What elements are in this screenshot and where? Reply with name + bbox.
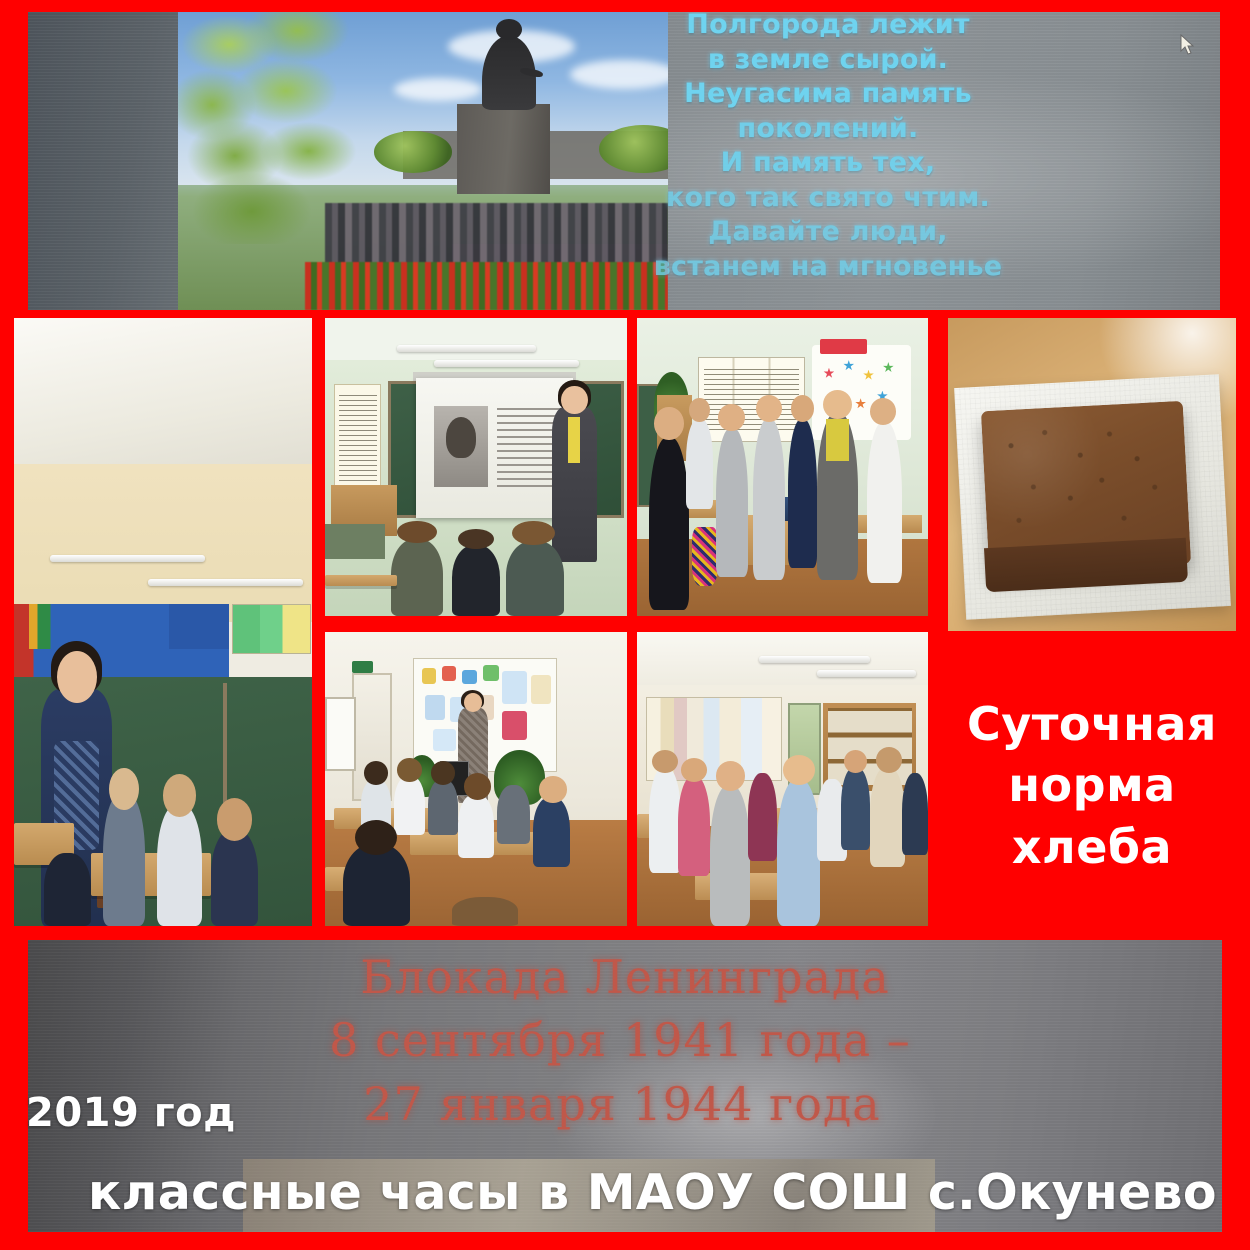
pupil [103, 792, 145, 926]
classroom-scene [637, 632, 928, 926]
projection-screen [416, 378, 573, 518]
photo-primary-class [325, 632, 627, 926]
caption-line: хлеба [1012, 817, 1172, 879]
pupil-head [681, 758, 707, 782]
teacher-blouse [826, 419, 849, 461]
poem-line: поколений. [548, 112, 1108, 147]
pupil [716, 428, 748, 577]
poem-line: Давайте люди, [548, 215, 1108, 250]
paper-card [433, 729, 456, 751]
paper-card [425, 695, 445, 720]
wall [14, 464, 312, 622]
portrait-photo [434, 406, 487, 487]
ceiling-lamp [434, 360, 579, 367]
mouse-pointer-icon [1180, 34, 1196, 56]
poem-line: Полгорода лежит [548, 12, 1108, 43]
star-icon [855, 398, 866, 409]
exit-sign [352, 661, 373, 673]
photo-bread-slice [948, 318, 1236, 631]
pupil [841, 767, 870, 849]
pupil-head [689, 398, 709, 422]
bread-scene [948, 318, 1236, 631]
photo-collage: Полгорода лежит в земле сырой. Неугасима… [0, 0, 1250, 1250]
poem-line: в земле сырой. [548, 43, 1108, 78]
ceiling-lamp [148, 579, 303, 586]
classroom-scene [637, 318, 928, 616]
pupil-head [163, 774, 196, 817]
star-icon [863, 370, 874, 381]
pupil [777, 779, 821, 926]
slide-line: 8 сентября 1941 года – [28, 1009, 1222, 1072]
poem-text: Полгорода лежит в земле сырой. Неугасима… [548, 12, 1108, 284]
star-icon [843, 360, 854, 371]
pupil [394, 776, 424, 835]
poem-line: И память тех, [548, 146, 1108, 181]
pupil-head [876, 747, 902, 773]
pupil [533, 797, 569, 868]
pupil-row [325, 515, 627, 616]
year-label: 2019 год [26, 1090, 236, 1136]
pupil-head [718, 404, 744, 431]
paper-card [502, 671, 528, 705]
classroom-scene [14, 318, 312, 926]
photo-students-in-line [637, 318, 928, 616]
alphabet-strip [14, 649, 229, 676]
whiteboard [325, 697, 356, 772]
alphabet-strip [14, 604, 229, 650]
ceiling-lamp [759, 656, 870, 663]
pupil [343, 844, 409, 926]
pupil [458, 794, 494, 859]
pupil [686, 419, 712, 508]
poem-line: встанем на мгновенье [548, 250, 1108, 285]
statue-plinth [457, 104, 550, 193]
ceiling-lamp [50, 555, 205, 562]
star-icon [823, 368, 834, 379]
pupil [506, 541, 563, 616]
banner-ribbon [820, 339, 867, 354]
ceiling-lamp [397, 345, 536, 352]
pupil [788, 419, 817, 568]
face [464, 693, 482, 712]
pupil [44, 853, 92, 926]
event-title-label: классные часы в МАОУ СОШ с.Окунево [88, 1164, 1217, 1221]
pupil [649, 767, 681, 873]
slide-line: Блокада Ленинграда [28, 946, 1222, 1009]
pupil [452, 545, 500, 616]
classroom-scene [325, 632, 627, 926]
pupil [211, 829, 259, 926]
pupil-head [654, 407, 683, 440]
pupil [867, 422, 902, 583]
pupil-head [512, 521, 554, 545]
paper-card [483, 665, 499, 681]
face [561, 386, 587, 414]
pupil-head [716, 761, 745, 790]
pupil-head [783, 755, 815, 784]
photo-class-standing [637, 632, 928, 926]
desk [325, 575, 397, 585]
pupil [452, 897, 518, 926]
face [57, 651, 97, 703]
wall-posters [698, 357, 805, 442]
photo-presentation [325, 318, 627, 616]
top-banner-projector-slide: Полгорода лежит в земле сырой. Неугасима… [28, 12, 1220, 310]
backpack [692, 527, 718, 587]
pupil [391, 539, 442, 616]
pupil-head [844, 750, 867, 774]
ceiling [325, 318, 627, 360]
poem-line: Неугасима память [548, 77, 1108, 112]
pupil [902, 773, 928, 855]
pupil [649, 437, 690, 610]
caption-line: норма [1008, 755, 1175, 817]
pupil [678, 776, 710, 876]
pupil-head [397, 521, 436, 543]
pupil [497, 785, 530, 844]
pupil-head [397, 758, 421, 782]
paper-card [462, 670, 478, 685]
ceiling-lamp [817, 670, 916, 677]
pupil-head [458, 529, 494, 549]
wall-poster [334, 384, 381, 493]
pupil-head [217, 798, 253, 841]
bread-ration-caption: Суточная норма хлеба [948, 646, 1236, 926]
pupil-head [652, 750, 678, 774]
pupil-head [464, 773, 491, 799]
star-icon [883, 362, 894, 373]
pupil [870, 767, 905, 867]
caption-line: Суточная [967, 694, 1217, 756]
poem-line: кого так свято чтим. [548, 181, 1108, 216]
paper-card [442, 666, 456, 681]
pupil [748, 773, 777, 861]
motherland-statue [482, 36, 536, 111]
paper-card [502, 711, 528, 740]
paper-card [422, 668, 436, 684]
pupil [428, 779, 458, 835]
projector-wall-scene: Полгорода лежит в земле сырой. Неугасима… [28, 12, 1220, 310]
pupil [753, 419, 785, 580]
pupil-head [870, 398, 896, 425]
foliage-branch [178, 12, 462, 244]
pupil [157, 804, 202, 926]
classroom-scene [325, 318, 627, 616]
pupil [710, 785, 751, 926]
scarf [568, 417, 581, 463]
photo-teacher-at-board [14, 318, 312, 926]
pupil-head [539, 776, 566, 802]
info-cards [232, 604, 311, 655]
pupil-head [431, 761, 455, 785]
paper-card [531, 675, 551, 704]
bookshelf [823, 703, 916, 791]
